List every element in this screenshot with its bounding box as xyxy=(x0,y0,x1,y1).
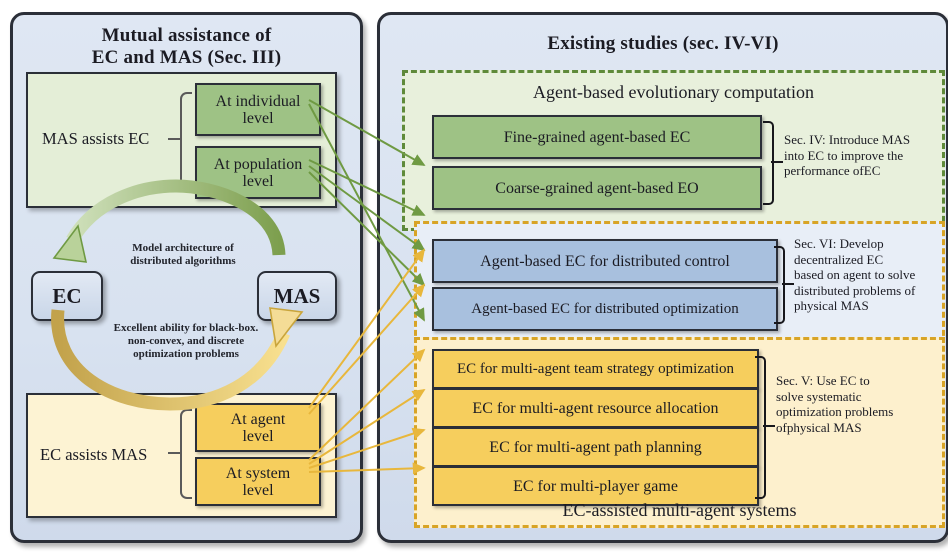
bracket-sec-vi xyxy=(774,246,785,324)
cycle-bottom-caption-line3: optimization problems xyxy=(83,348,289,361)
item-agent-based-ec-distributed-optimization-label: Agent-based EC for distributed optimizat… xyxy=(471,301,738,318)
mas-item-individual-level-line2: level xyxy=(216,110,301,127)
item-coarse-grained-agent-based-eo-label: Coarse-grained agent-based EO xyxy=(495,180,698,197)
ec-item-system-level[interactable]: At system level xyxy=(195,457,321,506)
cycle-bottom-caption-line2: non-convex, and discrete xyxy=(83,335,289,348)
note-sec-v-line3: optimization problems xyxy=(776,404,948,420)
note-sec-vi-line4: distributed problems of xyxy=(794,283,948,299)
item-resource-allocation-label: EC for multi-agent resource allocation xyxy=(472,400,718,417)
item-agent-based-ec-distributed-control-label: Agent-based EC for distributed control xyxy=(480,253,730,270)
bracket-sec-v-stem xyxy=(763,425,775,427)
mas-item-population-level[interactable]: At population level xyxy=(195,146,321,199)
item-path-planning-label: EC for multi-agent path planning xyxy=(489,439,701,456)
ec-item-agent-level-line1: At agent xyxy=(231,411,286,428)
right-panel: Existing studies (sec. IV-VI) Agent-base… xyxy=(377,12,948,543)
note-sec-v-line2: solve systematic xyxy=(776,389,948,405)
item-agent-based-ec-distributed-control[interactable]: Agent-based EC for distributed control xyxy=(432,239,778,283)
mas-assists-ec-label: MAS assists EC xyxy=(42,129,149,149)
ec-assists-mas-label: EC assists MAS xyxy=(40,445,147,465)
mas-item-population-level-line2: level xyxy=(214,173,302,190)
item-resource-allocation[interactable]: EC for multi-agent resource allocation xyxy=(432,388,759,428)
diagram-root: Mutual assistance of EC and MAS (Sec. II… xyxy=(0,0,948,554)
note-sec-vi-line3: based on agent to solve xyxy=(794,267,948,283)
item-team-strategy-optimization[interactable]: EC for multi-agent team strategy optimiz… xyxy=(432,349,759,389)
mas-bracket-stem xyxy=(168,138,181,140)
mas-bracket xyxy=(180,92,192,188)
node-mas-label: MAS xyxy=(274,284,321,309)
item-agent-based-ec-distributed-optimization[interactable]: Agent-based EC for distributed optimizat… xyxy=(432,287,778,331)
note-sec-vi-line5: physical MAS xyxy=(794,298,948,314)
note-sec-vi-line1: Sec. VI: Develop xyxy=(794,236,948,252)
right-panel-title: Existing studies (sec. IV-VI) xyxy=(380,33,946,55)
left-panel: Mutual assistance of EC and MAS (Sec. II… xyxy=(10,12,363,543)
bracket-sec-vi-stem xyxy=(782,283,794,285)
note-sec-iv-line3: performance ofEC xyxy=(784,163,948,179)
note-sec-iv-line1: Sec. IV: Introduce MAS xyxy=(784,132,948,148)
cycle-top-caption-line1: Model architecture of xyxy=(93,242,273,255)
group-agent-based-ec: Agent-based evolutionary computation Fin… xyxy=(402,70,945,231)
item-path-planning[interactable]: EC for multi-agent path planning xyxy=(432,427,759,467)
note-sec-iv: Sec. IV: Introduce MAS into EC to improv… xyxy=(784,132,948,179)
group-agent-based-ec-title: Agent-based evolutionary computation xyxy=(405,82,942,102)
mas-item-individual-level[interactable]: At individual level xyxy=(195,83,321,136)
cycle-top-caption: Model architecture of distributed algori… xyxy=(93,242,273,268)
item-fine-grained-agent-based-ec[interactable]: Fine-grained agent-based EC xyxy=(432,115,762,159)
note-sec-iv-line2: into EC to improve the xyxy=(784,148,948,164)
ec-assists-mas-group: EC assists MAS At agent level At system … xyxy=(26,393,337,518)
cycle-top-caption-line2: distributed algorithms xyxy=(93,255,273,268)
node-mas[interactable]: MAS xyxy=(257,271,337,321)
left-panel-title-line1: Mutual assistance of xyxy=(13,25,360,47)
bracket-sec-iv xyxy=(763,121,774,205)
node-ec[interactable]: EC xyxy=(31,271,103,321)
note-sec-vi-line2: decentralized EC xyxy=(794,252,948,268)
cycle-bottom-caption: Excellent ability for black-box. non-con… xyxy=(83,322,289,361)
note-sec-vi: Sec. VI: Develop decentralized EC based … xyxy=(794,236,948,314)
ec-bracket-stem xyxy=(168,452,181,454)
note-sec-v-line4: ofphysical MAS xyxy=(776,420,948,436)
left-panel-title: Mutual assistance of EC and MAS (Sec. II… xyxy=(13,25,360,69)
bracket-sec-v xyxy=(755,356,766,499)
group-ec-assisted-mas-title: EC-assisted multi-agent systems xyxy=(417,500,942,520)
note-sec-v: Sec. V: Use EC to solve systematic optim… xyxy=(776,373,948,435)
node-ec-label: EC xyxy=(52,284,81,309)
bracket-sec-iv-stem xyxy=(771,161,783,163)
left-panel-title-line2: EC and MAS (Sec. III) xyxy=(13,47,360,69)
item-multi-player-game-label: EC for multi-player game xyxy=(513,478,678,495)
ec-item-system-level-line1: At system xyxy=(226,465,290,482)
mas-item-population-level-line1: At population xyxy=(214,156,302,173)
ec-item-agent-level-line2: level xyxy=(231,428,286,445)
note-sec-v-line1: Sec. V: Use EC to xyxy=(776,373,948,389)
ec-item-system-level-line2: level xyxy=(226,482,290,499)
item-fine-grained-agent-based-ec-label: Fine-grained agent-based EC xyxy=(504,129,691,146)
mas-assists-ec-group: MAS assists EC At individual level At po… xyxy=(26,72,337,208)
cycle-bottom-caption-line1: Excellent ability for black-box. xyxy=(83,322,289,335)
group-distributed-ec: Agent-based EC for distributed control A… xyxy=(414,221,945,345)
ec-item-agent-level[interactable]: At agent level xyxy=(195,403,321,452)
item-coarse-grained-agent-based-eo[interactable]: Coarse-grained agent-based EO xyxy=(432,166,762,210)
mas-item-individual-level-line1: At individual xyxy=(216,93,301,110)
group-ec-assisted-mas: EC for multi-agent team strategy optimiz… xyxy=(414,337,945,528)
item-team-strategy-optimization-label: EC for multi-agent team strategy optimiz… xyxy=(457,361,734,378)
ec-bracket xyxy=(180,409,192,499)
